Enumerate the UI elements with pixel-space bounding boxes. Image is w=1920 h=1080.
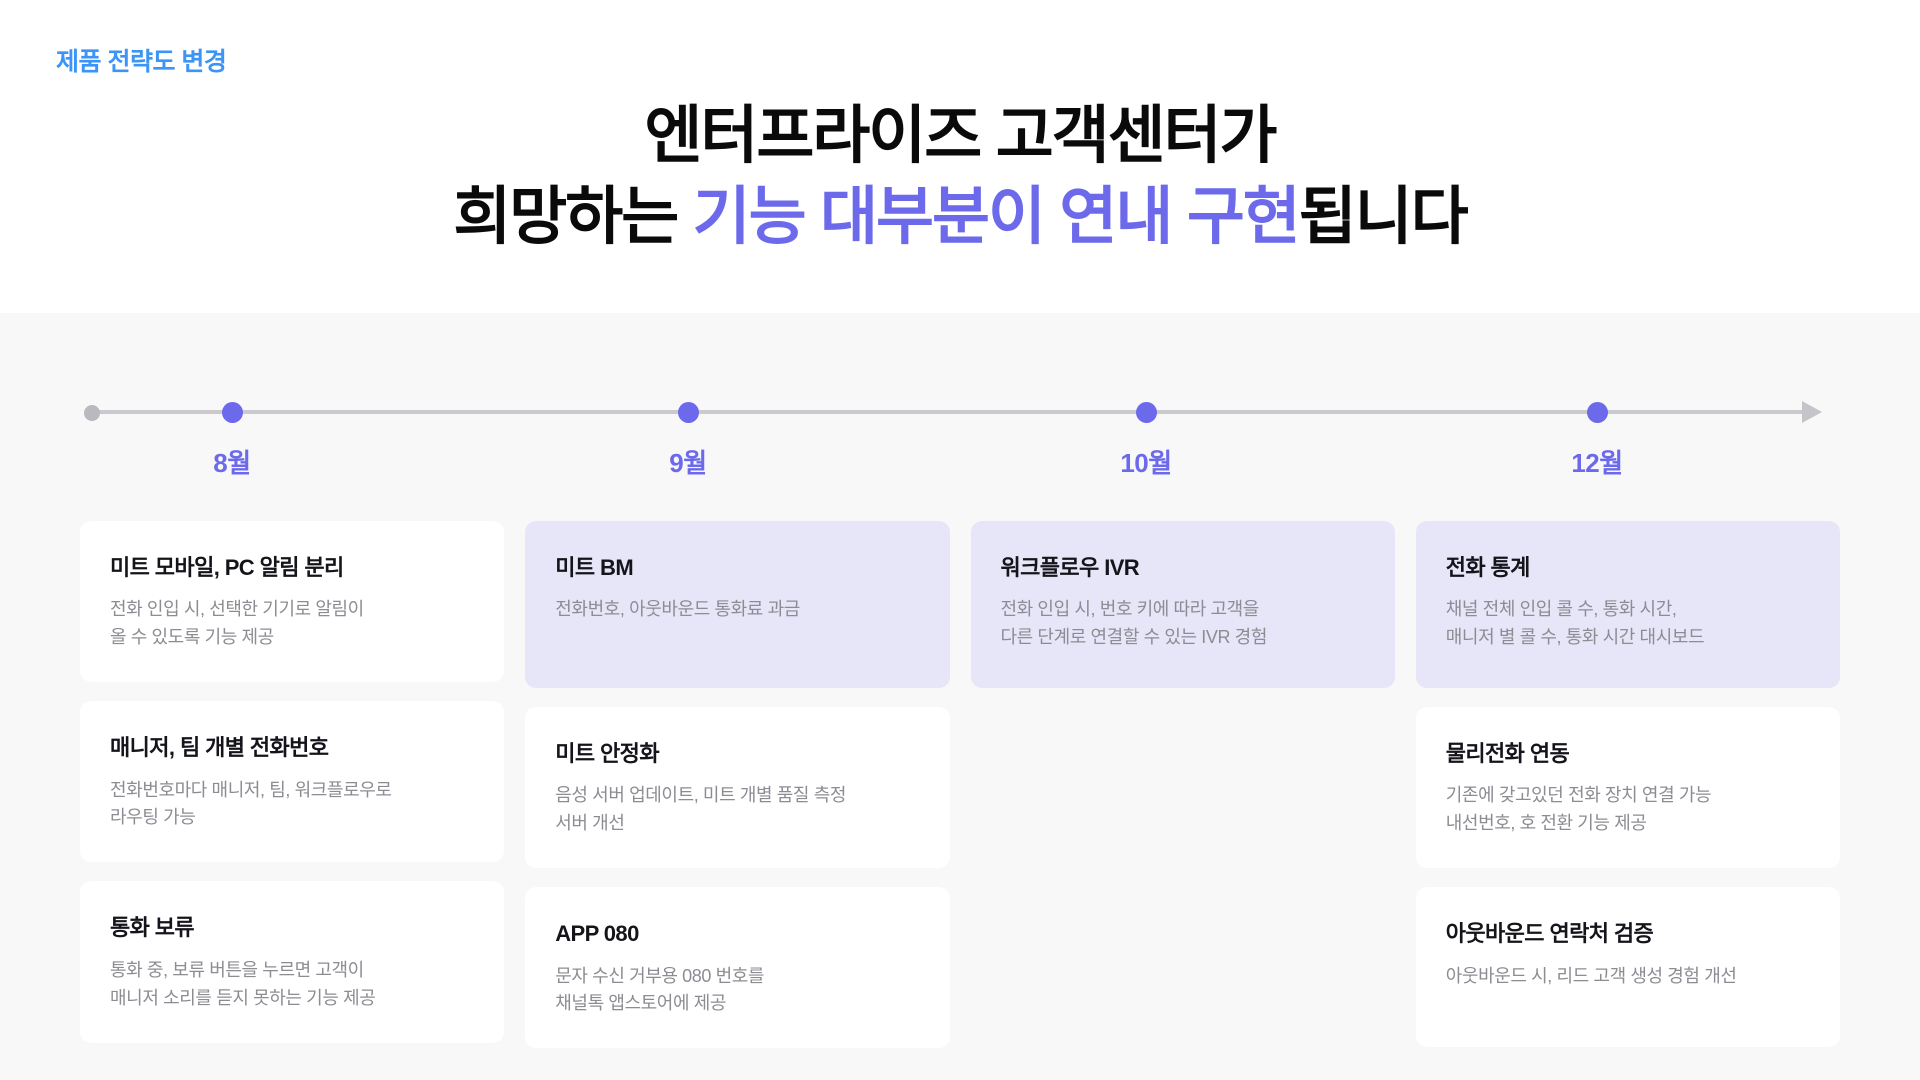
- timeline-dot-9월[interactable]: [678, 402, 699, 423]
- feature-card-description: 통화 중, 보류 버튼을 누르면 고객이 매니저 소리를 듣지 못하는 기능 제…: [110, 957, 474, 1013]
- feature-card-description: 기존에 갖고있던 전화 장치 연결 가능 내선번호, 호 전환 기능 제공: [1446, 782, 1810, 838]
- feature-card-title: 전화 통계: [1446, 555, 1810, 581]
- feature-card-title: 통화 보류: [110, 915, 474, 941]
- feature-card-title: 미트 모바일, PC 알림 분리: [110, 555, 474, 581]
- headline-line-2: 희망하는 기능 대부분이 연내 구현됩니다: [0, 177, 1920, 258]
- headline-line-2-suffix: 됩니다: [1299, 182, 1467, 252]
- timeline-arrow-icon: [1802, 401, 1822, 423]
- eyebrow-label: 제품 전략도 변경: [56, 42, 226, 78]
- timeline-dot-12월[interactable]: [1587, 402, 1608, 423]
- feature-card-description: 음성 서버 업데이트, 미트 개별 품질 측정 서버 개선: [555, 782, 919, 838]
- feature-card[interactable]: 전화 통계채널 전체 인입 콜 수, 통화 시간, 매니저 별 콜 수, 통화 …: [1416, 521, 1840, 688]
- feature-card-description: 전화번호마다 매니저, 팀, 워크플로우로 라우팅 가능: [110, 777, 474, 833]
- feature-card[interactable]: 아웃바운드 연락처 검증아웃바운드 시, 리드 고객 생성 경험 개선: [1416, 887, 1840, 1047]
- feature-card-title: 매니저, 팀 개별 전화번호: [110, 735, 474, 761]
- feature-card[interactable]: 워크플로우 IVR전화 인입 시, 번호 키에 따라 고객을 다른 단계로 연결…: [971, 521, 1395, 688]
- feature-card-title: 워크플로우 IVR: [1001, 555, 1365, 581]
- feature-card[interactable]: 미트 모바일, PC 알림 분리전화 인입 시, 선택한 기기로 알림이 올 수…: [80, 521, 504, 682]
- feature-card[interactable]: 미트 안정화음성 서버 업데이트, 미트 개별 품질 측정 서버 개선: [525, 707, 949, 868]
- timeline-dot-10월[interactable]: [1136, 402, 1157, 423]
- page-title: 엔터프라이즈 고객센터가 희망하는 기능 대부분이 연내 구현됩니다: [0, 96, 1920, 257]
- feature-card[interactable]: 미트 BM전화번호, 아웃바운드 통화료 과금: [525, 521, 949, 688]
- timeline-label-8월: 8월: [213, 443, 250, 480]
- column-9월: 미트 BM전화번호, 아웃바운드 통화료 과금미트 안정화음성 서버 업데이트,…: [525, 521, 949, 1048]
- feature-card-title: 미트 안정화: [555, 741, 919, 767]
- feature-card-description: 채널 전체 인입 콜 수, 통화 시간, 매니저 별 콜 수, 통화 시간 대시…: [1446, 596, 1810, 652]
- timeline-label-12월: 12월: [1571, 443, 1622, 480]
- header-band: 제품 전략도 변경 엔터프라이즈 고객센터가 희망하는 기능 대부분이 연내 구…: [0, 0, 1920, 313]
- feature-card-title: 물리전화 연동: [1446, 741, 1810, 767]
- feature-card-description: 전화번호, 아웃바운드 통화료 과금: [555, 596, 919, 624]
- feature-card-title: 아웃바운드 연락처 검증: [1446, 921, 1810, 947]
- timeline: 8월9월10월12월: [84, 405, 1844, 419]
- feature-card-description: 문자 수신 거부용 080 번호를 채널톡 앱스토어에 제공: [555, 963, 919, 1019]
- headline-line-2-accent: 기능 대부분이 연내 구현: [693, 182, 1299, 252]
- timeline-label-10월: 10월: [1120, 443, 1171, 480]
- feature-card[interactable]: 물리전화 연동기존에 갖고있던 전화 장치 연결 가능 내선번호, 호 전환 기…: [1416, 707, 1840, 868]
- headline-line-1: 엔터프라이즈 고객센터가: [0, 96, 1920, 177]
- roadmap-columns: 미트 모바일, PC 알림 분리전화 인입 시, 선택한 기기로 알림이 올 수…: [80, 521, 1840, 1048]
- feature-card[interactable]: 매니저, 팀 개별 전화번호전화번호마다 매니저, 팀, 워크플로우로 라우팅 …: [80, 701, 504, 862]
- column-12월: 전화 통계채널 전체 인입 콜 수, 통화 시간, 매니저 별 콜 수, 통화 …: [1416, 521, 1840, 1048]
- column-10월: 워크플로우 IVR전화 인입 시, 번호 키에 따라 고객을 다른 단계로 연결…: [971, 521, 1395, 1048]
- timeline-dot-8월[interactable]: [222, 402, 243, 423]
- column-8월: 미트 모바일, PC 알림 분리전화 인입 시, 선택한 기기로 알림이 올 수…: [80, 521, 504, 1048]
- feature-card[interactable]: APP 080문자 수신 거부용 080 번호를 채널톡 앱스토어에 제공: [525, 887, 949, 1048]
- feature-card[interactable]: 통화 보류통화 중, 보류 버튼을 누르면 고객이 매니저 소리를 듣지 못하는…: [80, 881, 504, 1042]
- feature-card-description: 전화 인입 시, 번호 키에 따라 고객을 다른 단계로 연결할 수 있는 IV…: [1001, 596, 1365, 652]
- feature-card-title: APP 080: [555, 921, 919, 947]
- timeline-label-9월: 9월: [669, 443, 706, 480]
- timeline-track: [92, 410, 1804, 414]
- feature-card-description: 아웃바운드 시, 리드 고객 생성 경험 개선: [1446, 963, 1810, 991]
- timeline-start-dot: [84, 405, 100, 421]
- feature-card-title: 미트 BM: [555, 555, 919, 581]
- feature-card-description: 전화 인입 시, 선택한 기기로 알림이 올 수 있도록 기능 제공: [110, 596, 474, 652]
- headline-line-2-prefix: 희망하는: [453, 182, 692, 252]
